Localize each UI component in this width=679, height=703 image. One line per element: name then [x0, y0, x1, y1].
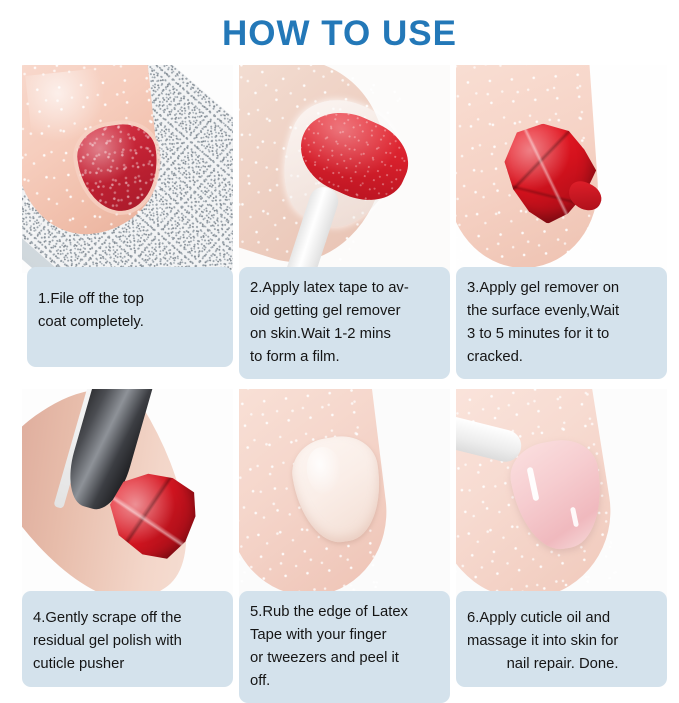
step-card-3: 3.Apply gel remover on the surface evenl… [456, 65, 667, 379]
caption-line: 1.File off the top [38, 288, 224, 311]
caption-line: or tweezers and peel it [250, 647, 441, 670]
caption-line: 4.Gently scrape off the [33, 607, 224, 630]
caption-line: residual gel polish with [33, 630, 224, 653]
caption-line: to form a film. [250, 346, 441, 369]
caption-line: 5.Rub the edge of Latex [250, 601, 441, 624]
step-card-4: 4.Gently scrape off the residual gel pol… [22, 389, 233, 703]
step-1-photo [22, 65, 233, 273]
how-to-use-infographic: HOW TO USE 1.File off the top coat compl… [0, 0, 679, 679]
step-6-caption: 6.Apply cuticle oil and massage it into … [456, 591, 667, 687]
step-5-caption: 5.Rub the edge of Latex Tape with your f… [239, 591, 450, 703]
caption-line: oid getting gel remover [250, 300, 441, 323]
page-title: HOW TO USE [0, 14, 679, 54]
step-2-photo [239, 65, 450, 273]
step-4-caption: 4.Gently scrape off the residual gel pol… [22, 591, 233, 687]
step-6-photo [456, 389, 667, 597]
caption-line: 2.Apply latex tape to av- [250, 277, 441, 300]
step-card-6: 6.Apply cuticle oil and massage it into … [456, 389, 667, 703]
caption-line: Tape with your finger [250, 624, 441, 647]
caption-line: off. [250, 670, 441, 693]
caption-line: the surface evenly,Wait [467, 300, 658, 323]
caption-line: 3.Apply gel remover on [467, 277, 658, 300]
step-3-photo [456, 65, 667, 273]
caption-line: cracked. [467, 346, 658, 369]
step-5-photo [239, 389, 450, 597]
step-1-caption: 1.File off the top coat completely. [27, 267, 233, 367]
step-3-caption: 3.Apply gel remover on the surface evenl… [456, 267, 667, 379]
caption-line: cuticle pusher [33, 653, 224, 676]
caption-line: 3 to 5 minutes for it to [467, 323, 658, 346]
step-card-2: 2.Apply latex tape to av- oid getting ge… [239, 65, 450, 379]
step-card-5: 5.Rub the edge of Latex Tape with your f… [239, 389, 450, 703]
steps-grid: 1.File off the top coat completely. 2.Ap… [22, 65, 662, 703]
step-4-photo [22, 389, 233, 597]
caption-line: nail repair. Done. [467, 653, 658, 676]
caption-line: 6.Apply cuticle oil and [467, 607, 658, 630]
step-2-caption: 2.Apply latex tape to av- oid getting ge… [239, 267, 450, 379]
caption-line: massage it into skin for [467, 630, 658, 653]
step-card-1: 1.File off the top coat completely. [22, 65, 233, 379]
caption-line: coat completely. [38, 311, 224, 334]
caption-line: on skin.Wait 1-2 mins [250, 323, 441, 346]
